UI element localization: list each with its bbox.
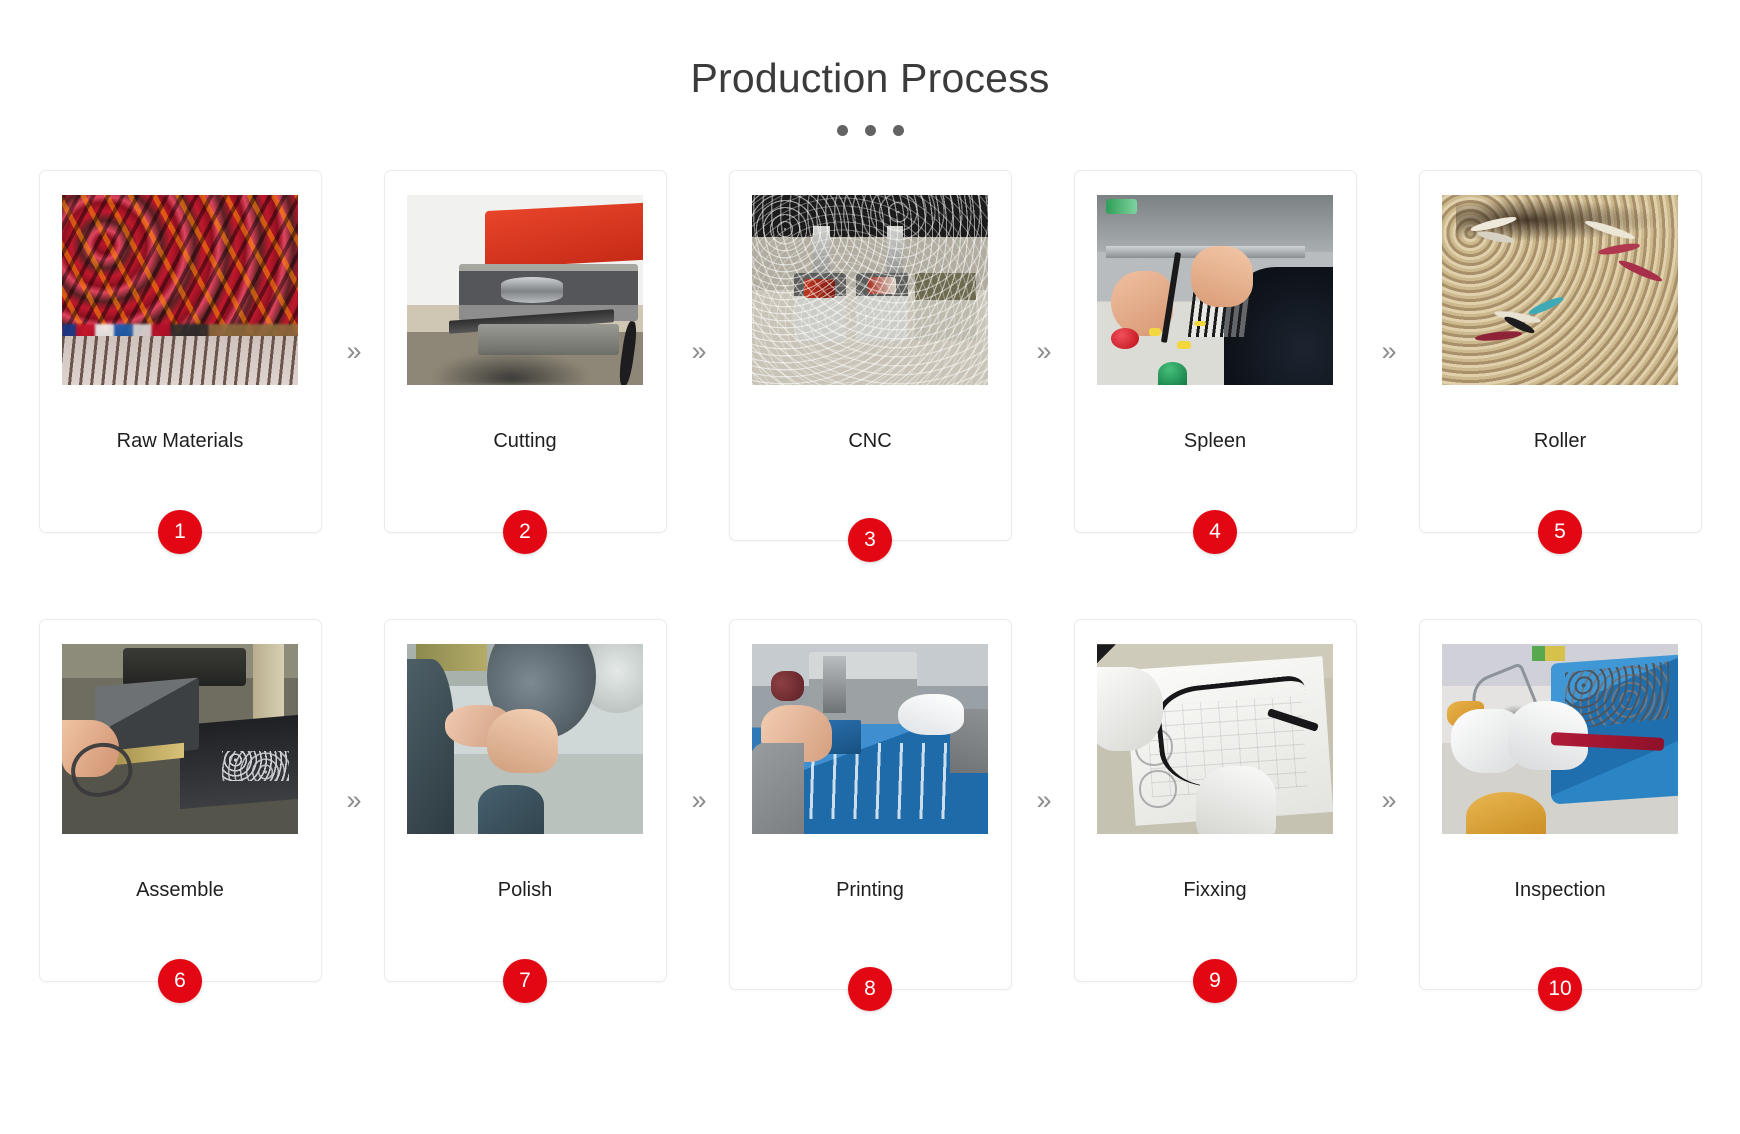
step-thumbnail	[1442, 195, 1678, 385]
chevron-right-icon-8: »	[1357, 619, 1419, 982]
shelf-items	[1532, 646, 1565, 661]
chevron-right-icon-1: »	[322, 170, 384, 533]
step-badge-8: 8	[848, 967, 892, 1011]
step-slot-3: CNC 3	[729, 170, 1012, 541]
step-card-cnc[interactable]: CNC 3	[729, 170, 1012, 541]
step-badge-10: 10	[1538, 967, 1582, 1011]
step-thumbnail	[1097, 195, 1333, 385]
step-label-10: Inspection	[1514, 878, 1605, 902]
floor-chips	[431, 351, 592, 385]
milling-chips	[752, 195, 988, 385]
page-title: Production Process	[0, 54, 1740, 103]
fixxing-photo	[1097, 644, 1333, 834]
step-thumbnail	[407, 195, 643, 385]
step-badge-3: 3	[848, 518, 892, 562]
ink-pads	[771, 671, 804, 701]
polish-photo	[407, 644, 643, 834]
step-card-raw-materials[interactable]: Raw Materials 1	[39, 170, 322, 533]
dot-1	[837, 125, 848, 136]
step-label-4: Spleen	[1184, 429, 1246, 453]
machine-hood	[485, 202, 643, 267]
step-card-inspection[interactable]: Inspection 10	[1419, 619, 1702, 990]
decorative-dots	[0, 125, 1740, 136]
chevron-right-icon-3: »	[1012, 170, 1074, 533]
yellow-marker-a	[1149, 328, 1161, 336]
green-button	[1158, 362, 1186, 385]
yellow-marker-c	[1194, 321, 1206, 327]
step-badge-5: 5	[1538, 510, 1582, 554]
step-card-cutting[interactable]: Cutting 2	[384, 170, 667, 533]
roller-photo	[1442, 195, 1678, 385]
step-slot-6: Assemble 6	[39, 619, 322, 982]
tumbling-frame	[1597, 241, 1640, 256]
step-slot-9: Fixxing 9	[1074, 619, 1357, 982]
assemble-photo	[62, 644, 298, 834]
worker-glove-left	[1097, 667, 1163, 751]
red-button	[1111, 328, 1139, 349]
printing-photo	[752, 644, 988, 834]
worker-sleeve-left	[752, 743, 804, 834]
step-card-polish[interactable]: Polish 7	[384, 619, 667, 982]
process-row-1: Raw Materials 1 »	[0, 170, 1740, 541]
step-thumbnail	[1442, 644, 1678, 834]
step-thumbnail	[752, 195, 988, 385]
spleen-photo	[1097, 195, 1333, 385]
page-header: Production Process	[0, 0, 1740, 136]
step-slot-4: Spleen 4	[1074, 170, 1357, 533]
step-label-5: Roller	[1534, 429, 1586, 453]
dot-3	[893, 125, 904, 136]
cutting-photo	[407, 195, 643, 385]
worker-hand-right	[487, 709, 558, 774]
step-thumbnail	[752, 644, 988, 834]
tumbling-frame	[1475, 330, 1523, 342]
step-label-2: Cutting	[493, 429, 556, 453]
machine-cable	[617, 320, 638, 385]
step-badge-1: 1	[158, 510, 202, 554]
step-thumbnail	[62, 195, 298, 385]
step-card-assemble[interactable]: Assemble 6	[39, 619, 322, 982]
machine-drum	[501, 277, 562, 304]
step-badge-2: 2	[503, 510, 547, 554]
cnc-photo	[752, 195, 988, 385]
step-thumbnail	[62, 644, 298, 834]
step-badge-4: 4	[1193, 510, 1237, 554]
dot-2	[865, 125, 876, 136]
step-slot-5: Roller 5	[1419, 170, 1702, 533]
step-thumbnail	[1097, 644, 1333, 834]
yellow-marker-b	[1177, 341, 1191, 349]
step-label-9: Fixxing	[1183, 878, 1246, 902]
step-label-3: CNC	[848, 429, 891, 453]
step-card-printing[interactable]: Printing 8	[729, 619, 1012, 990]
step-slot-1: Raw Materials 1	[39, 170, 322, 533]
chevron-right-icon-4: »	[1357, 170, 1419, 533]
step-slot-10: Inspection 10	[1419, 619, 1702, 990]
step-thumbnail	[407, 644, 643, 834]
step-label-8: Printing	[836, 878, 904, 902]
process-row-2: Assemble 6 »	[0, 619, 1740, 990]
process-steps-grid: Raw Materials 1 »	[0, 170, 1740, 990]
worker-hand-right	[1191, 246, 1252, 307]
print-head	[823, 656, 847, 713]
step-badge-9: 9	[1193, 959, 1237, 1003]
screw-pile	[222, 751, 288, 781]
step-card-fixxing[interactable]: Fixxing 9	[1074, 619, 1357, 982]
worker-sleeve-left	[407, 659, 454, 834]
step-label-6: Assemble	[136, 878, 224, 902]
worker-glove-right	[1196, 766, 1276, 834]
production-process-page: Production Process Raw Materials 1	[0, 0, 1740, 1134]
step-slot-8: Printing 8	[729, 619, 1012, 990]
green-fixture	[1106, 199, 1137, 214]
tumbling-frame	[1527, 294, 1565, 316]
inspection-photo	[1442, 644, 1678, 834]
step-slot-2: Cutting 2	[384, 170, 667, 533]
chevron-right-icon-7: »	[1012, 619, 1074, 982]
step-card-roller[interactable]: Roller 5	[1419, 170, 1702, 533]
worker-glove	[898, 694, 964, 736]
chevron-right-icon-5: »	[322, 619, 384, 982]
step-card-spleen[interactable]: Spleen 4	[1074, 170, 1357, 533]
step-badge-7: 7	[503, 959, 547, 1003]
worker-cuff	[478, 785, 544, 834]
lens-outline	[1139, 770, 1177, 808]
chevron-right-icon-6: »	[667, 619, 729, 982]
yellow-cloth-b	[1466, 792, 1546, 834]
sheet-edge-stripes	[62, 324, 298, 341]
corner-shadow	[1097, 644, 1116, 663]
tumbling-frame	[1617, 258, 1663, 284]
step-badge-6: 6	[158, 959, 202, 1003]
raw-materials-photo	[62, 195, 298, 385]
step-label-7: Polish	[498, 878, 552, 902]
chevron-right-icon-2: »	[667, 170, 729, 533]
step-label-1: Raw Materials	[117, 429, 244, 453]
step-slot-7: Polish 7	[384, 619, 667, 982]
